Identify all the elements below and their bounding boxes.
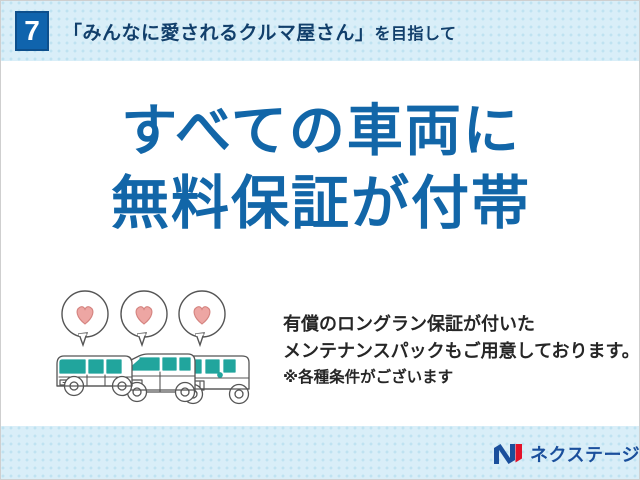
- headline: すべての車両に 無料保証が付帯: [1, 99, 640, 237]
- lower-content: 有償のロングラン保証が付いた メンテナンスパックもご用意しております。 ※各種条…: [1, 286, 640, 426]
- illustration-svg: [43, 286, 273, 421]
- heart-bubble-2: [121, 291, 167, 345]
- header-title: 「みんなに愛されるクルマ屋さん」を目指して: [63, 18, 456, 45]
- header-title-tail: を目指して: [374, 26, 456, 43]
- body-line-2: メンテナンスパックもご用意しております。: [283, 338, 640, 365]
- promo-slide: 7 「みんなに愛されるクルマ屋さん」を目指して すべての車両に 無料保証が付帯: [0, 0, 640, 480]
- cars-with-hearts-illustration: [43, 286, 273, 421]
- header-title-quoted: 「みんなに愛されるクルマ屋さん」: [63, 23, 374, 44]
- brand-logo: ネクステージ: [493, 441, 640, 467]
- heart-bubble-3: [179, 291, 225, 345]
- heart-bubble-1: [62, 291, 108, 345]
- main-panel: すべての車両に 無料保証が付帯: [1, 61, 640, 426]
- headline-line-1: すべての車両に: [1, 99, 640, 164]
- header: 7 「みんなに愛されるクルマ屋さん」を目指して: [1, 1, 640, 61]
- headline-line-2: 無料保証が付帯: [1, 170, 640, 237]
- brand-name: ネクステージ: [530, 441, 640, 467]
- body-line-3-note: ※各種条件がございます: [283, 366, 640, 390]
- section-number-badge: 7: [15, 11, 49, 51]
- nexstage-n-logo-icon: [493, 443, 523, 465]
- car-van: [57, 356, 132, 396]
- body-copy: 有償のロングラン保証が付いた メンテナンスパックもご用意しております。 ※各種条…: [283, 311, 640, 389]
- body-line-1: 有償のロングラン保証が付いた: [283, 311, 640, 338]
